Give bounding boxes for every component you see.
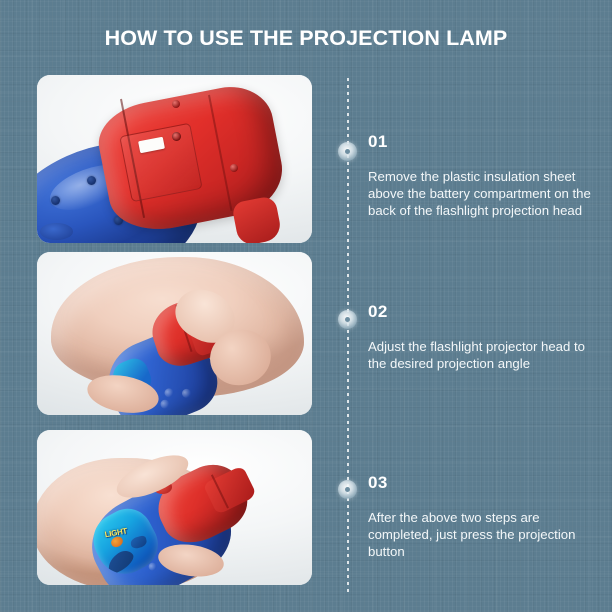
step-3-photo: LIGHT	[37, 430, 312, 585]
body-screw-icon	[51, 196, 60, 205]
head-screw-icon	[172, 132, 181, 141]
step-1: 01 Remove the plastic insulation sheet a…	[368, 133, 596, 219]
timeline-marker-3	[338, 480, 357, 499]
projector-lens-lip	[231, 196, 283, 243]
grip-bump	[40, 223, 73, 240]
step-2-description: Adjust the flashlight projector head to …	[368, 338, 596, 372]
step-photo-card-2	[37, 252, 312, 415]
step-2-number: 02	[368, 303, 596, 322]
step-2: 02 Adjust the flashlight projector head …	[368, 303, 596, 372]
grip-bump	[180, 387, 192, 399]
timeline-marker-2	[338, 310, 357, 329]
step-3-description: After the above two steps are completed,…	[368, 509, 596, 560]
step-3-number: 03	[368, 474, 596, 493]
grip-bump	[147, 561, 158, 572]
grip-bump	[159, 397, 171, 409]
body-screw-icon	[87, 176, 96, 185]
head-screw-icon	[230, 164, 238, 172]
shark-icon	[129, 535, 147, 550]
step-photo-card-1	[37, 75, 312, 243]
step-3: 03 After the above two steps are complet…	[368, 474, 596, 560]
timeline-marker-1	[338, 142, 357, 161]
head-screw-icon	[172, 100, 180, 108]
step-2-photo	[37, 252, 312, 415]
step-1-photo	[37, 75, 312, 243]
whale-icon	[104, 546, 137, 576]
step-1-description: Remove the plastic insulation sheet abov…	[368, 168, 596, 219]
label-text: LIGHT	[103, 526, 127, 539]
page-title: HOW TO USE THE PROJECTION LAMP	[0, 26, 612, 51]
grip-bump	[163, 387, 175, 399]
step-1-number: 01	[368, 133, 596, 152]
step-photo-card-3: LIGHT	[37, 430, 312, 585]
battery-compartment-door	[119, 123, 202, 203]
